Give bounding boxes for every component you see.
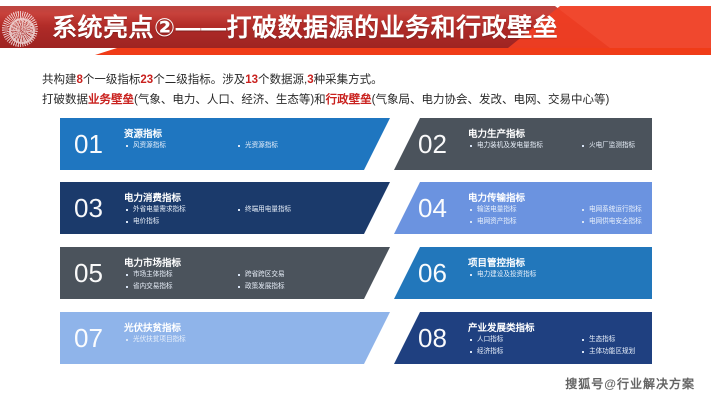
indicator-bullet: 火电厂监测指标: [580, 140, 652, 152]
business-barrier-label: 业务壁垒: [88, 94, 134, 106]
indicator-bullet: 外省电量需求指标: [124, 204, 236, 216]
indicator-number-03: 03: [74, 195, 103, 221]
indicator-bullet: 电力装机及发电量指标: [468, 140, 580, 152]
indicator-row: 07光伏扶贫指标光伏扶贫项目指标08产业发展类指标人口指标生态指标经济指标主体功…: [60, 312, 652, 364]
intro-l2-a: 打破数据: [42, 94, 88, 106]
indicator-row: 03电力消费指标外省电量需求指标终端用电量指标电价指标04电力传输指标输送电量指…: [60, 182, 652, 234]
indicator-bullet: 生态指标: [580, 334, 652, 346]
indicator-bullet: 经济指标: [468, 346, 580, 358]
indicator-bullet: 跨省跨区交易: [236, 269, 354, 281]
indicator-bullet: 风资源指标: [124, 140, 236, 152]
watermark: 搜狐号@行业解决方案: [565, 375, 695, 392]
intro-line-1: 共构建8个一级指标23个二级指标。涉及13个数据源,3种采集方式。: [42, 70, 682, 90]
indicator-bullet: 人口指标: [468, 334, 580, 346]
indicator-row: 05电力市场指标市场主体指标跨省跨区交易省内交易指标政策发展指标06项目管控指标…: [60, 247, 652, 299]
intro-paragraph: 共构建8个一级指标23个二级指标。涉及13个数据源,3种采集方式。 打破数据业务…: [42, 70, 682, 110]
indicator-diagram: 01资源指标风资源指标光资源指标02电力生产指标电力装机及发电量指标火电厂监测指…: [0, 118, 711, 378]
indicator-bullet: 光资源指标: [236, 140, 354, 152]
indicator-bullets-07: 光伏扶贫项目指标: [124, 334, 354, 346]
indicator-panel-05[interactable]: 05电力市场指标市场主体指标跨省跨区交易省内交易指标政策发展指标: [60, 247, 390, 299]
indicator-bullet: 市场主体指标: [124, 269, 236, 281]
header-banner: 系统亮点②——打破数据源的业务和行政壁垒: [0, 0, 711, 64]
intro-l1-a: 共构建: [42, 74, 77, 86]
indicator-panel-06[interactable]: 06项目管控指标电力建设及投资指标: [394, 247, 652, 299]
indicator-bullet: 电网供电安全指标: [580, 216, 652, 228]
indicator-bullet: 输送电量指标: [468, 204, 580, 216]
intro-l1-d: 个数据源,: [258, 74, 307, 86]
indicator-number-04: 04: [418, 195, 447, 221]
indicator-bullets-08: 人口指标生态指标经济指标主体功能区规划: [468, 334, 652, 358]
indicator-bullet: 电网系统运行指标: [580, 204, 652, 216]
intro-line-2: 打破数据业务壁垒(气象、电力、人口、经济、生态等)和行政壁垒(气象局、电力协会、…: [42, 90, 682, 110]
intro-l1-e: 种采集方式。: [314, 74, 383, 86]
indicator-panel-08[interactable]: 08产业发展类指标人口指标生态指标经济指标主体功能区规划: [394, 312, 652, 364]
indicator-panel-07[interactable]: 07光伏扶贫指标光伏扶贫项目指标: [60, 312, 390, 364]
intro-l1-c: 个二级指标。涉及: [153, 74, 245, 86]
indicator-bullet: 电力建设及投资指标: [468, 269, 580, 281]
indicator-bullet: 电网资产指标: [468, 216, 580, 228]
indicator-panel-04[interactable]: 04电力传输指标输送电量指标电网系统运行指标电网资产指标电网供电安全指标: [394, 182, 652, 234]
indicator-number-02: 02: [418, 131, 447, 157]
indicator-title-06: 项目管控指标: [468, 255, 525, 269]
indicator-row: 01资源指标风资源指标光资源指标02电力生产指标电力装机及发电量指标火电厂监测指…: [60, 118, 652, 170]
indicator-bullet: 光伏扶贫项目指标: [124, 334, 236, 346]
indicator-bullets-06: 电力建设及投资指标: [468, 269, 652, 281]
admin-barrier-label: 行政壁垒: [326, 94, 372, 106]
banner-red-stripe: [95, 48, 711, 55]
indicator-bullets-02: 电力装机及发电量指标火电厂监测指标: [468, 140, 652, 152]
indicator-title-08: 产业发展类指标: [468, 320, 535, 334]
indicator-number-05: 05: [74, 260, 103, 286]
intro-l1-b: 个一级指标: [83, 74, 141, 86]
indicator-bullets-03: 外省电量需求指标终端用电量指标电价指标: [124, 204, 354, 228]
indicator-number-01: 01: [74, 131, 103, 157]
page-title: 系统亮点②——打破数据源的业务和行政壁垒: [52, 9, 558, 47]
indicator-count-secondary: 23: [140, 74, 153, 86]
indicator-number-06: 06: [418, 260, 447, 286]
indicator-title-04: 电力传输指标: [468, 190, 525, 204]
seal-emblem-icon: [2, 11, 38, 47]
indicator-bullet: 省内交易指标: [124, 281, 236, 293]
indicator-title-01: 资源指标: [124, 126, 162, 140]
datasource-count: 13: [245, 74, 258, 86]
indicator-panel-02[interactable]: 02电力生产指标电力装机及发电量指标火电厂监测指标: [394, 118, 652, 170]
indicator-bullet: 政策发展指标: [236, 281, 354, 293]
indicator-panel-01[interactable]: 01资源指标风资源指标光资源指标: [60, 118, 390, 170]
indicator-bullet: 主体功能区规划: [580, 346, 652, 358]
indicator-title-07: 光伏扶贫指标: [124, 320, 181, 334]
indicator-title-02: 电力生产指标: [468, 126, 525, 140]
indicator-number-08: 08: [418, 325, 447, 351]
indicator-bullet: 终端用电量指标: [236, 204, 354, 216]
indicator-bullets-04: 输送电量指标电网系统运行指标电网资产指标电网供电安全指标: [468, 204, 652, 228]
indicator-title-05: 电力市场指标: [124, 255, 181, 269]
indicator-bullet: 电价指标: [124, 216, 236, 228]
indicator-bullets-01: 风资源指标光资源指标: [124, 140, 354, 152]
indicator-bullets-05: 市场主体指标跨省跨区交易省内交易指标政策发展指标: [124, 269, 354, 293]
intro-l2-c: (气象局、电力协会、发改、电网、交易中心等): [372, 94, 610, 106]
indicator-number-07: 07: [74, 325, 103, 351]
indicator-title-03: 电力消费指标: [124, 190, 181, 204]
indicator-panel-03[interactable]: 03电力消费指标外省电量需求指标终端用电量指标电价指标: [60, 182, 390, 234]
intro-l2-b: (气象、电力、人口、经济、生态等)和: [134, 94, 326, 106]
